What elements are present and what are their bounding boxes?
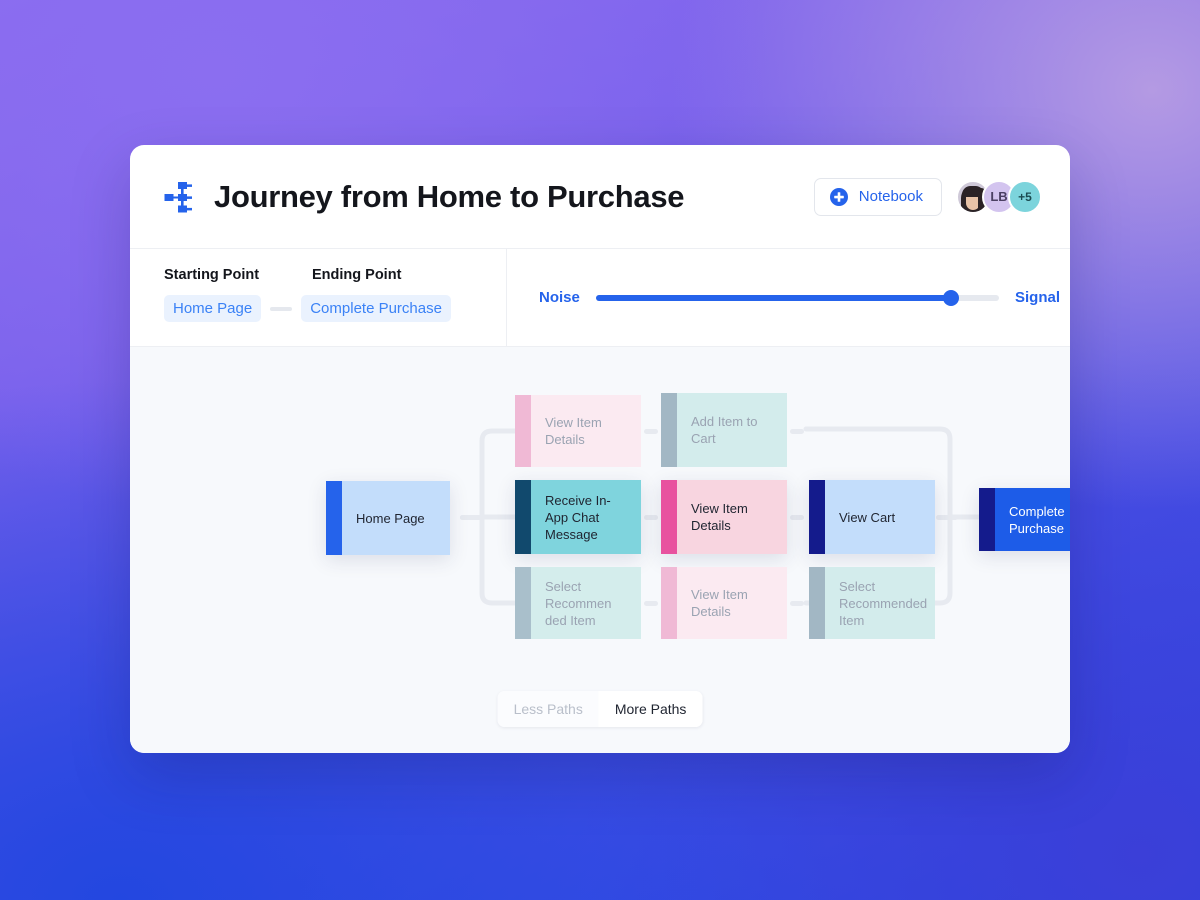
avatar-group[interactable]: LB +5 bbox=[956, 180, 1042, 214]
node-accent-bar bbox=[515, 567, 531, 639]
node-label: Home Page bbox=[356, 510, 425, 527]
graph-node-view-item-details-top[interactable]: View Item Details bbox=[515, 395, 641, 467]
node-body: Select Recommended Item bbox=[825, 567, 935, 639]
page-title: Journey from Home to Purchase bbox=[214, 179, 684, 215]
graph-node-select-recommended-item-right[interactable]: Select Recommended Item bbox=[809, 567, 935, 639]
ending-point-chip[interactable]: Complete Purchase bbox=[301, 295, 451, 322]
chip-connector bbox=[270, 307, 292, 311]
endpoint-chips: Home Page Complete Purchase bbox=[164, 295, 506, 322]
card-header: Journey from Home to Purchase Notebook L… bbox=[130, 145, 1070, 249]
connector-dash bbox=[790, 429, 804, 434]
endpoint-filters: Starting Point Ending Point Home Page Co… bbox=[130, 249, 507, 346]
node-label: Select Recommen ded Item bbox=[545, 578, 627, 629]
node-body: View Item Details bbox=[531, 395, 641, 467]
node-label: View Item Details bbox=[691, 500, 773, 534]
connector-dash bbox=[790, 515, 804, 520]
graph-node-add-item-to-cart[interactable]: Add Item to Cart bbox=[661, 393, 787, 467]
notebook-label: Notebook bbox=[859, 188, 923, 205]
node-accent-bar bbox=[661, 393, 677, 467]
journey-flow-icon bbox=[164, 180, 198, 214]
node-accent-bar bbox=[515, 480, 531, 554]
node-accent-bar bbox=[979, 488, 995, 551]
node-accent-bar bbox=[661, 567, 677, 639]
more-paths-button[interactable]: More Paths bbox=[599, 691, 703, 727]
connector-dash bbox=[644, 429, 658, 434]
graph-node-view-item-details-mid[interactable]: View Item Details bbox=[661, 480, 787, 554]
less-paths-button[interactable]: Less Paths bbox=[498, 691, 599, 727]
node-accent-bar bbox=[326, 481, 342, 555]
graph-node-view-cart[interactable]: View Cart bbox=[809, 480, 935, 554]
graph-node-view-item-details-bottom[interactable]: View Item Details bbox=[661, 567, 787, 639]
slider-fill bbox=[596, 295, 951, 301]
header-actions: Notebook LB +5 bbox=[814, 178, 1042, 216]
node-label: View Item Details bbox=[691, 586, 773, 620]
paths-toggle: Less Paths More Paths bbox=[498, 691, 703, 727]
starting-point-chip[interactable]: Home Page bbox=[164, 295, 261, 322]
connector-dash bbox=[936, 515, 958, 520]
graph-node-complete-purchase[interactable]: Complete Purchase bbox=[979, 488, 1070, 551]
node-body: View Cart bbox=[825, 480, 935, 554]
node-accent-bar bbox=[809, 567, 825, 639]
connector-dash bbox=[460, 515, 482, 520]
ending-point-heading: Ending Point bbox=[312, 267, 401, 283]
node-label: Add Item to Cart bbox=[691, 413, 773, 447]
node-label: View Item Details bbox=[545, 414, 627, 448]
node-body: Home Page bbox=[342, 481, 450, 555]
noise-signal-slider[interactable] bbox=[596, 295, 999, 301]
node-accent-bar bbox=[515, 395, 531, 467]
connector-dash bbox=[644, 601, 658, 606]
node-body: Complete Purchase bbox=[995, 488, 1070, 551]
node-body: Receive In-App Chat Message bbox=[531, 480, 641, 554]
node-body: View Item Details bbox=[677, 480, 787, 554]
graph-node-receive-chat-message[interactable]: Receive In-App Chat Message bbox=[515, 480, 641, 554]
journey-canvas: Home PageView Item DetailsReceive In-App… bbox=[130, 347, 1070, 753]
filter-bar: Starting Point Ending Point Home Page Co… bbox=[130, 249, 1070, 347]
graph-node-home-page[interactable]: Home Page bbox=[326, 481, 450, 555]
journey-card: Journey from Home to Purchase Notebook L… bbox=[130, 145, 1070, 753]
node-label: View Cart bbox=[839, 509, 895, 526]
noise-signal-slider-group: Noise Signal bbox=[507, 249, 1070, 346]
noise-label: Noise bbox=[539, 289, 580, 306]
endpoint-headings: Starting Point Ending Point bbox=[164, 267, 506, 283]
node-body: View Item Details bbox=[677, 567, 787, 639]
overflow-avatar[interactable]: +5 bbox=[1008, 180, 1042, 214]
starting-point-heading: Starting Point bbox=[164, 267, 312, 283]
notebook-button[interactable]: Notebook bbox=[814, 178, 942, 216]
node-label: Receive In-App Chat Message bbox=[545, 492, 627, 543]
connector-dash bbox=[790, 601, 804, 606]
node-label: Select Recommended Item bbox=[839, 578, 927, 629]
connector-dash bbox=[644, 515, 658, 520]
graph-node-select-recommended-item-left[interactable]: Select Recommen ded Item bbox=[515, 567, 641, 639]
plus-circle-icon bbox=[829, 187, 849, 207]
node-accent-bar bbox=[661, 480, 677, 554]
node-body: Select Recommen ded Item bbox=[531, 567, 641, 639]
node-label: Complete Purchase bbox=[1009, 503, 1070, 537]
slider-thumb[interactable] bbox=[943, 290, 959, 306]
signal-label: Signal bbox=[1015, 289, 1060, 306]
node-body: Add Item to Cart bbox=[677, 393, 787, 467]
node-accent-bar bbox=[809, 480, 825, 554]
